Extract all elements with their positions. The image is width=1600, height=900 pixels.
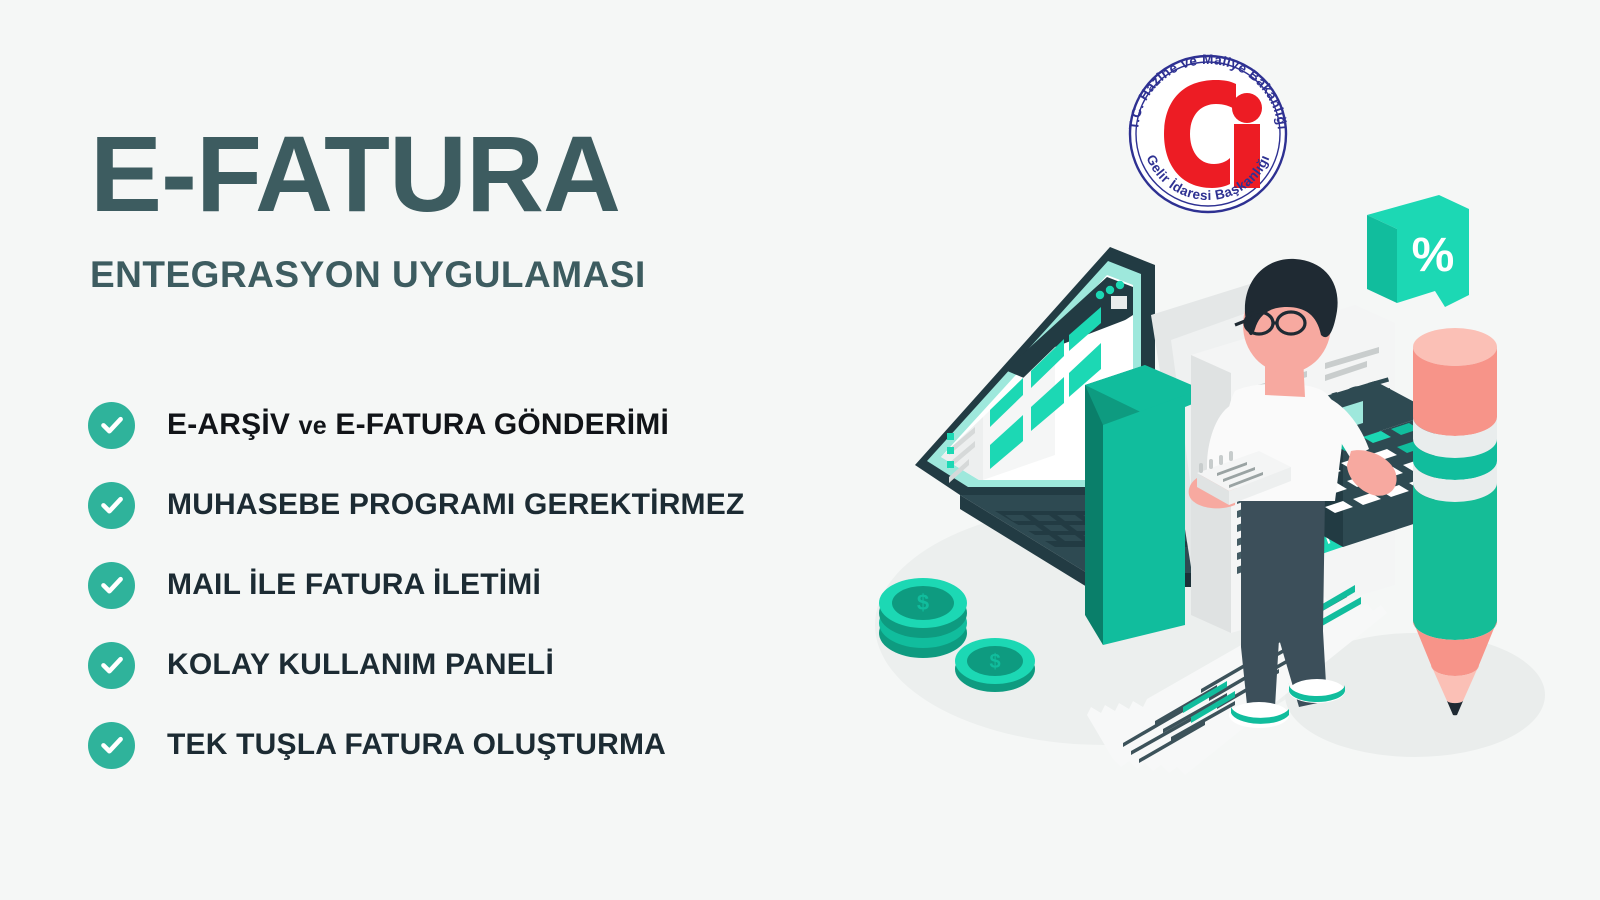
coin-symbol: $ [917,590,929,615]
browser-dot-3 [1116,281,1124,289]
folder-edge [1085,385,1103,645]
headline-block: E-FATURA ENTEGRASYON UYGULAMASI [90,120,890,296]
list-item: MAIL İLE FATURA İLETİMİ [88,545,918,625]
check-icon [88,482,135,529]
hero-illustration: INVOICE [855,195,1575,835]
list-item-label: MUHASEBE PROGRAMI GEREKTİRMEZ [167,488,745,522]
poster-canvas: E-FATURA ENTEGRASYON UYGULAMASI E-ARŞİV … [0,0,1600,900]
list-item-label-connector: ve [299,412,327,440]
list-item-label-part2: E-FATURA GÖNDERİMİ [335,408,669,441]
check-icon [88,722,135,769]
folder-front [1103,395,1185,645]
list-item-label: TEK TUŞLA FATURA OLUŞTURMA [167,728,666,762]
coin-symbol: $ [989,651,1000,673]
page-subtitle: ENTEGRASYON UYGULAMASI [90,254,890,296]
coin-stack: $ [879,578,967,658]
list-item: KOLAY KULLANIM PANELİ [88,625,918,705]
check-icon [88,562,135,609]
coin-single: $ [955,638,1035,692]
logo-i-dot [1232,93,1262,123]
list-item: MUHASEBE PROGRAMI GEREKTİRMEZ [88,465,918,545]
list-item-label: E-ARŞİV ve E-FATURA GÖNDERİMİ [167,408,669,442]
check-icon [88,402,135,449]
list-item-label: MAIL İLE FATURA İLETİMİ [167,568,541,602]
browser-addressbar [1111,296,1127,309]
list-item-label-part1: E-ARŞİV [167,408,290,441]
list-item-label: KOLAY KULLANIM PANELİ [167,648,554,682]
percent-badge: % [1367,195,1469,307]
page-title: E-FATURA [90,120,890,228]
feature-list: E-ARŞİV ve E-FATURA GÖNDERİMİ MUHASEBE P… [88,385,918,785]
browser-dot-2 [1106,286,1114,294]
list-item: E-ARŞİV ve E-FATURA GÖNDERİMİ [88,385,918,465]
check-icon [88,642,135,689]
list-item: TEK TUŞLA FATURA OLUŞTURMA [88,705,918,785]
screen-bullets [947,433,954,468]
percent-symbol: % [1412,229,1455,282]
browser-dot-1 [1096,291,1104,299]
